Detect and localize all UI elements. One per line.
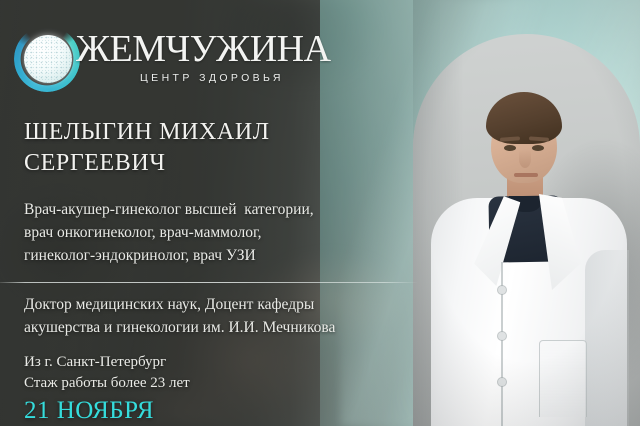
doctor-specialty: Врач-акушер-гинеколог высшей категории, … xyxy=(24,198,424,267)
brand-tagline: ЦЕНТР ЗДОРОВЬЯ xyxy=(140,72,284,84)
doctor-mouth xyxy=(514,173,538,177)
pearl-logo-icon xyxy=(14,26,80,92)
brand-logo: ЖЕМЧУЖИНА ЦЕНТР ЗДОРОВЬЯ xyxy=(14,24,304,94)
doctor-coat-button xyxy=(498,286,506,294)
doctor-name-line-1: ШЕЛЫГИН МИХАИЛ xyxy=(24,117,384,148)
doctor-name: ШЕЛЫГИН МИХАИЛ СЕРГЕЕВИЧ xyxy=(24,117,384,179)
specialty-line: Врач-акушер-гинеколог высшей категории, xyxy=(24,198,424,221)
doctor-eye-left xyxy=(504,145,516,151)
doctor-coat-button xyxy=(498,378,506,386)
doctor-coat-button xyxy=(498,332,506,340)
degree-line: Доктор медицинских наук, Доцент кафедры xyxy=(24,293,424,316)
appointment-date: 21 НОЯБРЯ xyxy=(24,396,384,426)
section-divider xyxy=(0,282,418,283)
doctor-coat-pocket xyxy=(539,340,587,417)
specialty-line: врач онкогинеколог, врач-маммолог, xyxy=(24,221,424,244)
doctor-degree: Доктор медицинских наук, Доцент кафедры … xyxy=(24,293,424,339)
specialty-line: гинеколог-эндокринолог, врач УЗИ xyxy=(24,244,424,267)
doctor-arm-shading xyxy=(585,250,629,426)
doctor-city: Из г. Санкт-Петербург xyxy=(24,352,384,373)
logo-pearl-texture xyxy=(24,35,72,83)
doctor-experience: Стаж работы более 23 лет xyxy=(24,373,384,394)
doctor-footer: Из г. Санкт-Петербург Стаж работы более … xyxy=(24,352,384,426)
doctor-nose xyxy=(519,150,531,168)
doctor-eye-right xyxy=(532,145,544,151)
degree-line: акушерства и гинекологии им. И.И. Мечник… xyxy=(24,316,424,339)
brand-wordmark: ЖЕМЧУЖИНА xyxy=(76,30,331,68)
doctor-photo xyxy=(413,0,640,426)
doctor-name-line-2: СЕРГЕЕВИЧ xyxy=(24,148,384,179)
doctor-hand xyxy=(439,392,469,426)
clinic-announcement-poster: ЖЕМЧУЖИНА ЦЕНТР ЗДОРОВЬЯ ШЕЛЫГИН МИХАИЛ … xyxy=(0,0,640,426)
